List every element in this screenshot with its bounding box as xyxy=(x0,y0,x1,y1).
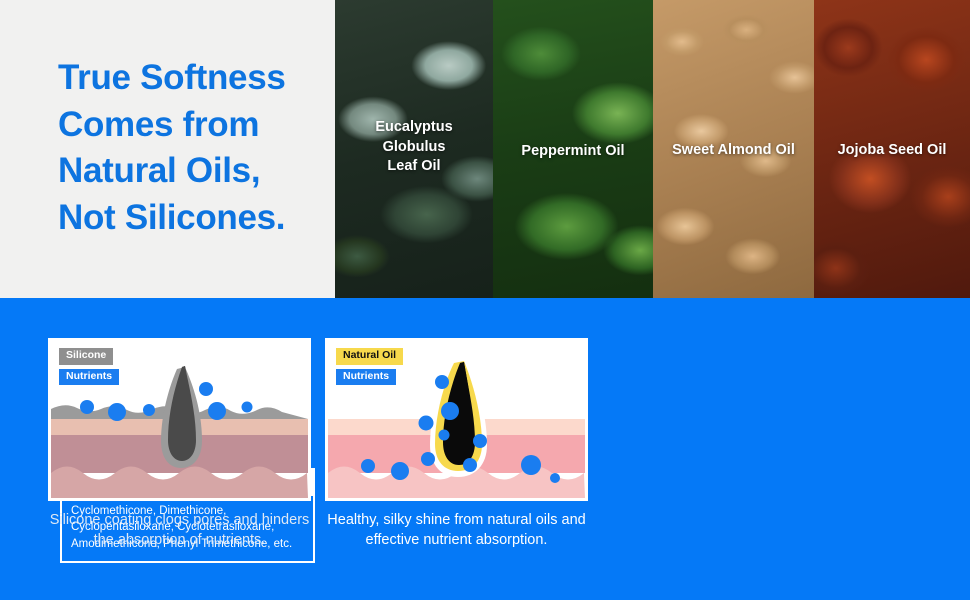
legend-badge-nutrients: Nutrients xyxy=(59,369,119,386)
headline-line-2: Comes from xyxy=(58,102,333,149)
legend-badge-natural-oil: Natural Oil xyxy=(336,348,403,365)
nutrient-dot xyxy=(143,404,155,416)
photo-label-eucalyptus: Eucalyptus Globulus Leaf Oil xyxy=(335,118,493,177)
bottom-section: Why Does 'No Silicone' Matter? Check The… xyxy=(0,298,970,600)
ingredient-photo-strip: Eucalyptus Globulus Leaf Oil Peppermint … xyxy=(335,0,970,298)
photo-jojoba: Jojoba Seed Oil xyxy=(814,0,970,298)
caption-natural-oil: Healthy, silky shine from natural oils a… xyxy=(325,510,588,550)
nutrient-dot xyxy=(421,452,435,466)
nutrient-dot xyxy=(463,458,477,472)
legend-badge-silicone: Silicone xyxy=(59,348,113,365)
photo-label-peppermint: Peppermint Oil xyxy=(493,142,653,162)
nutrient-dot xyxy=(108,403,126,421)
nutrient-dot xyxy=(550,473,560,483)
headline-line-3: Natural Oils, xyxy=(58,148,333,195)
nutrient-dot xyxy=(199,382,213,396)
nutrient-dot xyxy=(391,462,409,480)
photo-label-line: Eucalyptus xyxy=(375,119,452,135)
page-headline: True Softness Comes from Natural Oils, N… xyxy=(58,55,333,241)
hair-shaft xyxy=(168,366,196,461)
headline-line-1: True Softness xyxy=(58,55,333,102)
caption-silicone: Silicone coating clogs pores and hinders… xyxy=(48,510,311,550)
nutrient-dot xyxy=(441,402,459,420)
photo-label-jojoba: Jojoba Seed Oil xyxy=(814,141,970,161)
headline-line-4: Not Silicones. xyxy=(58,195,333,242)
nutrient-dot xyxy=(208,402,226,420)
photo-label-line: Globulus xyxy=(383,139,446,155)
nutrient-dot xyxy=(80,400,94,414)
diagram-panel-silicone: Silicone Nutrients xyxy=(48,338,311,501)
nutrient-dot xyxy=(439,430,450,441)
photo-eucalyptus: Eucalyptus Globulus Leaf Oil xyxy=(335,0,493,298)
photo-peppermint: Peppermint Oil xyxy=(493,0,653,298)
legend-silicone: Silicone Nutrients xyxy=(59,348,119,385)
silicone-follicle-diagram: Silicone Nutrients xyxy=(51,341,308,498)
nutrient-dot xyxy=(435,375,449,389)
natural-oil-follicle-diagram: Natural Oil Nutrients xyxy=(328,341,585,498)
photo-label-sweet-almond: Sweet Almond Oil xyxy=(653,141,814,161)
photo-label-line: Leaf Oil xyxy=(387,158,440,174)
legend-badge-nutrients: Nutrients xyxy=(336,369,396,386)
nutrient-dot xyxy=(361,459,375,473)
top-section: True Softness Comes from Natural Oils, N… xyxy=(0,0,970,298)
nutrient-dot xyxy=(419,416,434,431)
diagram-panel-natural-oil: Natural Oil Nutrients xyxy=(325,338,588,501)
legend-natural-oil: Natural Oil Nutrients xyxy=(336,348,403,385)
nutrient-dot xyxy=(521,455,541,475)
nutrient-dot xyxy=(242,402,253,413)
nutrient-dot xyxy=(473,434,487,448)
photo-sweet-almond: Sweet Almond Oil xyxy=(653,0,814,298)
